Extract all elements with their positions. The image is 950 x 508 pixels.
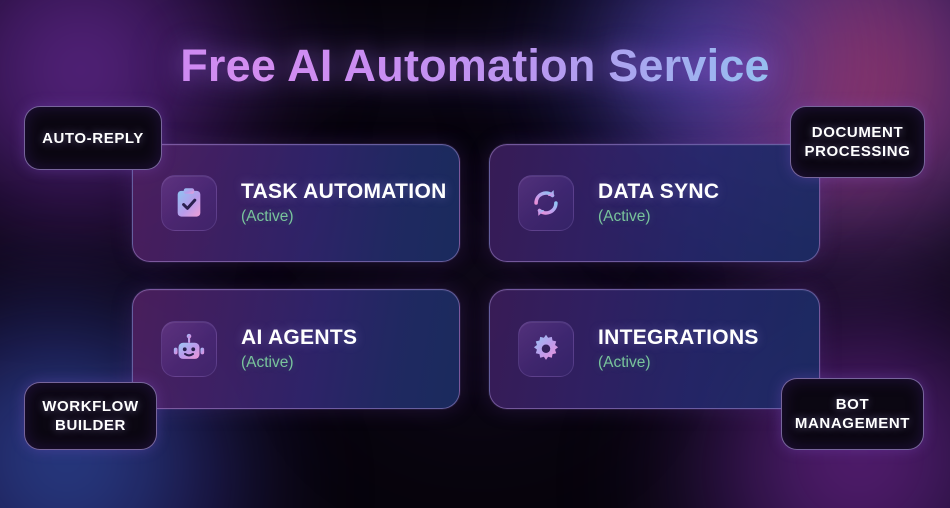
badge-line-1: WORKFLOW	[42, 397, 138, 416]
card-task-automation-text: TASK AUTOMATION (Active)	[241, 179, 447, 227]
card-ai-agents-text: AI AGENTS (Active)	[241, 325, 357, 373]
badge-line-1: BOT	[795, 395, 910, 414]
badge-document-processing[interactable]: DOCUMENT PROCESSING	[790, 106, 925, 178]
clipboard-check-icon	[161, 175, 217, 231]
card-task-automation[interactable]: TASK AUTOMATION (Active)	[132, 144, 460, 262]
card-data-sync[interactable]: DATA SYNC (Active)	[489, 144, 820, 262]
card-title: INTEGRATIONS	[598, 325, 759, 350]
poster-canvas: Free AI Automation Service TASK AUTOMATI…	[0, 0, 950, 508]
badge-line-1: DOCUMENT	[804, 123, 910, 142]
status-badge: (Active)	[241, 207, 447, 227]
status-badge: (Active)	[598, 207, 719, 227]
badge-auto-reply-text: AUTO-REPLY	[42, 129, 144, 148]
card-integrations-text: INTEGRATIONS (Active)	[598, 325, 759, 373]
status-badge: (Active)	[598, 353, 759, 373]
page-title: Free AI Automation Service	[0, 38, 950, 94]
badge-workflow-builder[interactable]: WORKFLOW BUILDER	[24, 382, 157, 450]
robot-icon	[161, 321, 217, 377]
badge-line-2: BUILDER	[42, 416, 138, 435]
card-data-sync-text: DATA SYNC (Active)	[598, 179, 719, 227]
badge-line-1: AUTO-REPLY	[42, 129, 144, 148]
sync-refresh-icon	[518, 175, 574, 231]
card-title: TASK AUTOMATION	[241, 179, 447, 204]
gear-icon	[518, 321, 574, 377]
badge-bot-management-text: BOT MANAGEMENT	[795, 395, 910, 433]
badge-auto-reply[interactable]: AUTO-REPLY	[24, 106, 162, 170]
badge-line-2: MANAGEMENT	[795, 414, 910, 433]
card-ai-agents[interactable]: AI AGENTS (Active)	[132, 289, 460, 409]
badge-document-processing-text: DOCUMENT PROCESSING	[804, 123, 910, 161]
badge-line-2: PROCESSING	[804, 142, 910, 161]
card-title: DATA SYNC	[598, 179, 719, 204]
status-badge: (Active)	[241, 353, 357, 373]
badge-bot-management[interactable]: BOT MANAGEMENT	[781, 378, 924, 450]
badge-workflow-builder-text: WORKFLOW BUILDER	[42, 397, 138, 435]
card-title: AI AGENTS	[241, 325, 357, 350]
card-integrations[interactable]: INTEGRATIONS (Active)	[489, 289, 820, 409]
